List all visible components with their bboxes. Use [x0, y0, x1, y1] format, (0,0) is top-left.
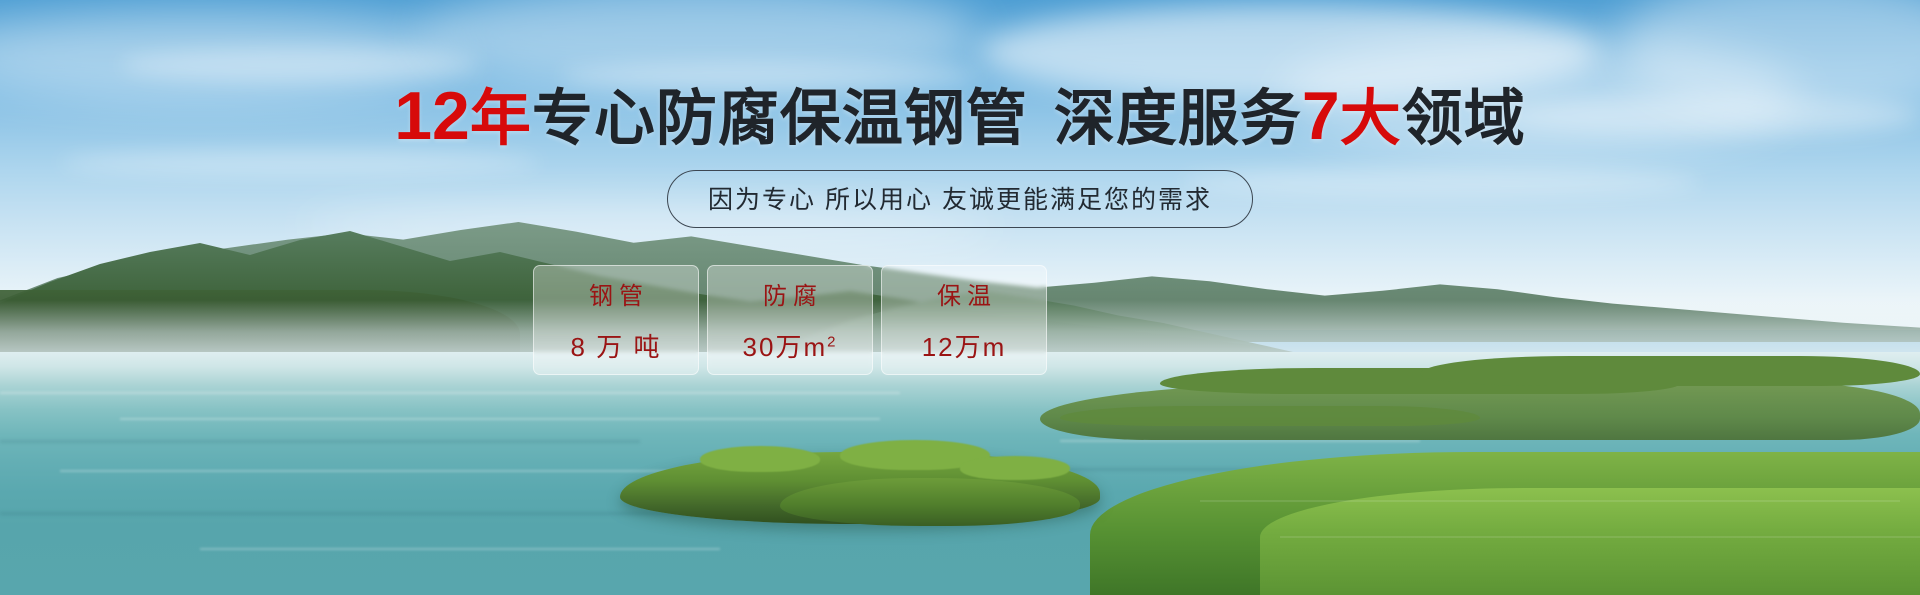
- stat-card-label: 防腐: [757, 276, 823, 311]
- stat-card-value: 12万m: [922, 327, 1007, 364]
- stat-card-steel-pipe: 钢管 8 万 吨: [533, 265, 699, 375]
- headline-segment-one: 专心防腐保温钢管: [532, 84, 1028, 152]
- stat-value-main: 8 万 吨: [571, 332, 662, 362]
- headline-highlight-unit: 大: [1340, 84, 1402, 152]
- stat-card-value: 8 万 吨: [571, 327, 662, 364]
- stat-card-anticorrosion: 防腐 30万m2: [707, 265, 873, 375]
- stat-value-main: 12万m: [922, 332, 1007, 362]
- headline-segment-two: 深度服务: [1054, 84, 1302, 152]
- banner-subtitle-pill: 因为专心 所以用心 友诚更能满足您的需求: [667, 170, 1253, 228]
- stat-value-superscript: 2: [827, 333, 837, 350]
- headline-highlight-number: 7: [1302, 78, 1340, 154]
- headline-years-unit: 年: [470, 84, 532, 152]
- stat-card-value: 30万m2: [743, 327, 838, 364]
- stat-card-label: 保温: [931, 276, 997, 311]
- banner-content: 12年专心防腐保温钢管深度服务7大领域 因为专心 所以用心 友诚更能满足您的需求…: [0, 0, 1920, 595]
- stat-card-insulation: 保温 12万m: [881, 265, 1047, 375]
- stat-card-label: 钢管: [583, 276, 649, 311]
- banner-headline: 12年专心防腐保温钢管深度服务7大领域: [0, 82, 1920, 150]
- stat-value-main: 30万m: [743, 332, 828, 362]
- headline-segment-three: 领域: [1402, 84, 1526, 152]
- banner-subtitle-wrapper: 因为专心 所以用心 友诚更能满足您的需求: [0, 170, 1920, 228]
- hero-banner: 12年专心防腐保温钢管深度服务7大领域 因为专心 所以用心 友诚更能满足您的需求…: [0, 0, 1920, 595]
- stat-card-group: 钢管 8 万 吨 防腐 30万m2 保温 12万m: [533, 265, 1047, 375]
- headline-years-number: 12: [394, 78, 470, 154]
